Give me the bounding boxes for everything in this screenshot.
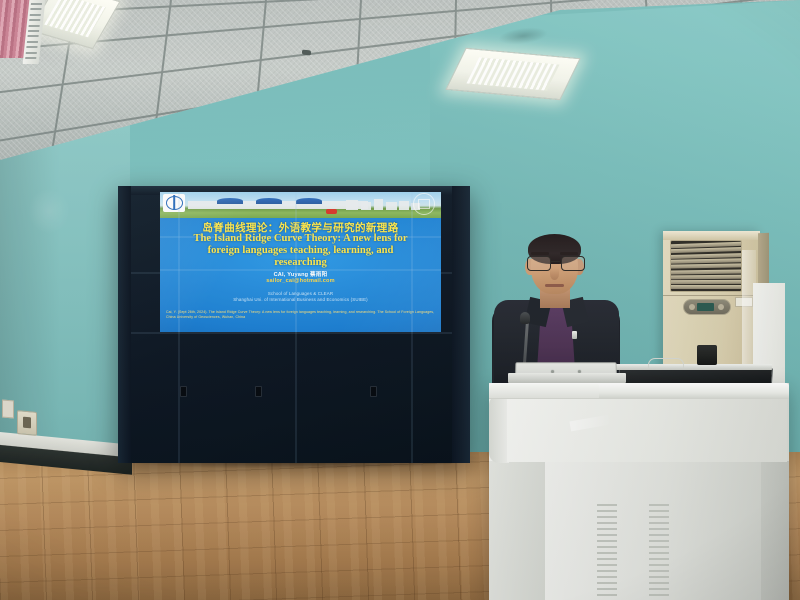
slide-author: CAI, Yuyang 蔡雨阳	[160, 270, 441, 278]
slide-banner-image	[160, 192, 441, 218]
banner-dome	[256, 198, 282, 204]
slide-english-title: The Island Ridge Curve Theory: A new len…	[168, 233, 433, 269]
light-tube	[466, 57, 560, 90]
presentation-slide[interactable]: 岛脊曲线理论：外语教学与研究的新理路 The Island Ridge Curv…	[160, 192, 441, 332]
wall-power-outlet-secondary[interactable]	[2, 399, 14, 418]
lectern-lower-left	[489, 461, 547, 600]
lectern-front-panel	[507, 397, 787, 462]
eyeglass-bridge	[550, 261, 560, 262]
desk-device	[697, 345, 717, 365]
ac-control-panel[interactable]	[683, 299, 731, 315]
ac-knob-left[interactable]	[689, 304, 695, 310]
slide-affiliation-line-2: Shanghai Uni. of International Business …	[160, 297, 441, 302]
banner-dome	[217, 198, 243, 204]
lectern-rounded-edge	[489, 395, 509, 463]
wall-power-outlet[interactable]	[17, 410, 37, 436]
banner-building	[361, 202, 371, 210]
eyeglass-lens-right	[561, 256, 585, 271]
banner-building	[374, 199, 383, 210]
lectern-lower-front	[545, 461, 763, 600]
light-tube	[44, 0, 105, 37]
monitor-lid-edge	[616, 364, 772, 370]
monitor-handle[interactable]	[648, 358, 684, 368]
banner-building	[399, 201, 409, 210]
slide-title-line-2: foreign languages teaching, learning, an…	[168, 245, 433, 257]
banner-dome	[296, 198, 322, 204]
lectern-lower-right	[761, 461, 789, 600]
lecture-hall-photo: 岛脊曲线理论：外语教学与研究的新理路 The Island Ridge Curv…	[0, 0, 800, 600]
ac-top-cap	[663, 231, 760, 240]
presenter-mouth	[545, 284, 564, 287]
lapel-pin	[572, 331, 577, 339]
lectern-vent-left	[597, 504, 617, 600]
ac-display	[697, 303, 714, 311]
smoke-detector-icon	[302, 50, 311, 56]
lectern-vent-right	[649, 504, 669, 600]
banner-building	[386, 202, 397, 210]
ac-knob-right[interactable]	[718, 304, 724, 310]
slide-affiliation-line-1: School of Languages & CLEAR	[160, 291, 441, 296]
slide-citation: Cai, Y. (Sept 26th, 2024). The Island Ri…	[166, 310, 435, 321]
wall-stain	[28, 188, 70, 234]
slide-title-line-1: The Island Ridge Curve Theory: A new len…	[168, 233, 433, 245]
ac-brand-label	[677, 287, 678, 291]
slide-email: sailor_cai@hotmail.com	[160, 278, 441, 284]
video-wall-left-bezel	[118, 186, 131, 463]
video-wall-right-bezel	[452, 186, 470, 463]
eyeglass-lens-left	[527, 256, 551, 271]
cabinet-handle[interactable]	[370, 386, 377, 397]
banner-building	[346, 200, 358, 210]
presenter-brow-right	[560, 252, 578, 255]
cabinet-handle[interactable]	[180, 386, 187, 397]
presenter-brow-left	[531, 252, 549, 255]
image-watermark-icon	[413, 193, 435, 215]
cabinet-handle[interactable]	[255, 386, 262, 397]
presenter-nose	[550, 268, 559, 280]
laptop-base	[508, 373, 626, 383]
watermark-frame	[418, 199, 430, 209]
slide-title-line-3: researching	[168, 257, 433, 269]
lectern-worktop-left	[489, 384, 599, 398]
banner-red-accent	[326, 209, 337, 214]
emblem-ring	[166, 196, 183, 210]
outlet-socket-icon	[23, 417, 31, 429]
university-emblem-icon	[163, 194, 185, 212]
ac-air-vent	[670, 240, 742, 292]
microphone-head-icon	[520, 312, 530, 324]
